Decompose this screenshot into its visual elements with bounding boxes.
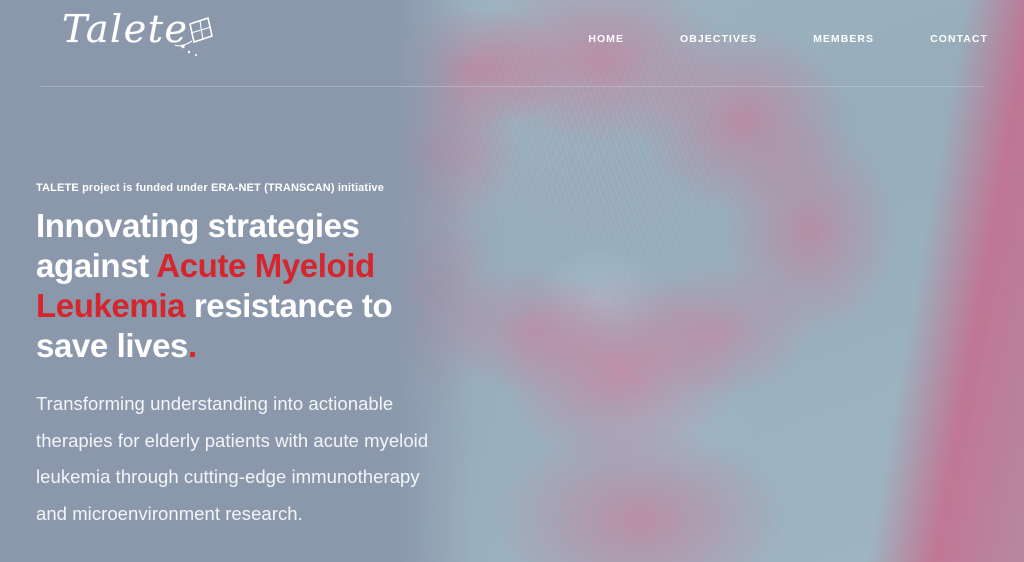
hero-subtitle: Transforming understanding into actionab… [36, 386, 431, 533]
hero-headline: Innovating strategies against Acute Myel… [36, 206, 466, 366]
site-header: Talete HOME OBJECTIVES MEMBERS CO [0, 0, 1024, 87]
hero-headline-accent-period: . [188, 327, 197, 364]
nav-link-objectives[interactable]: OBJECTIVES [680, 29, 757, 49]
site-logo[interactable]: Talete [62, 2, 232, 64]
kite-flag-icon [174, 14, 232, 60]
nav-link-home[interactable]: HOME [588, 29, 624, 49]
site-logo-text: Talete [62, 10, 188, 48]
nav-link-members[interactable]: MEMBERS [813, 29, 874, 49]
primary-navigation[interactable]: HOME OBJECTIVES MEMBERS CONTACT [588, 29, 988, 49]
hero-eyebrow-text: TALETE project is funded under ERA-NET (… [36, 181, 466, 195]
hero-section: Talete HOME OBJECTIVES MEMBERS CO [0, 0, 1024, 562]
nav-link-contact[interactable]: CONTACT [930, 29, 988, 49]
header-divider [40, 86, 985, 87]
hero-copy-block: TALETE project is funded under ERA-NET (… [36, 181, 466, 532]
